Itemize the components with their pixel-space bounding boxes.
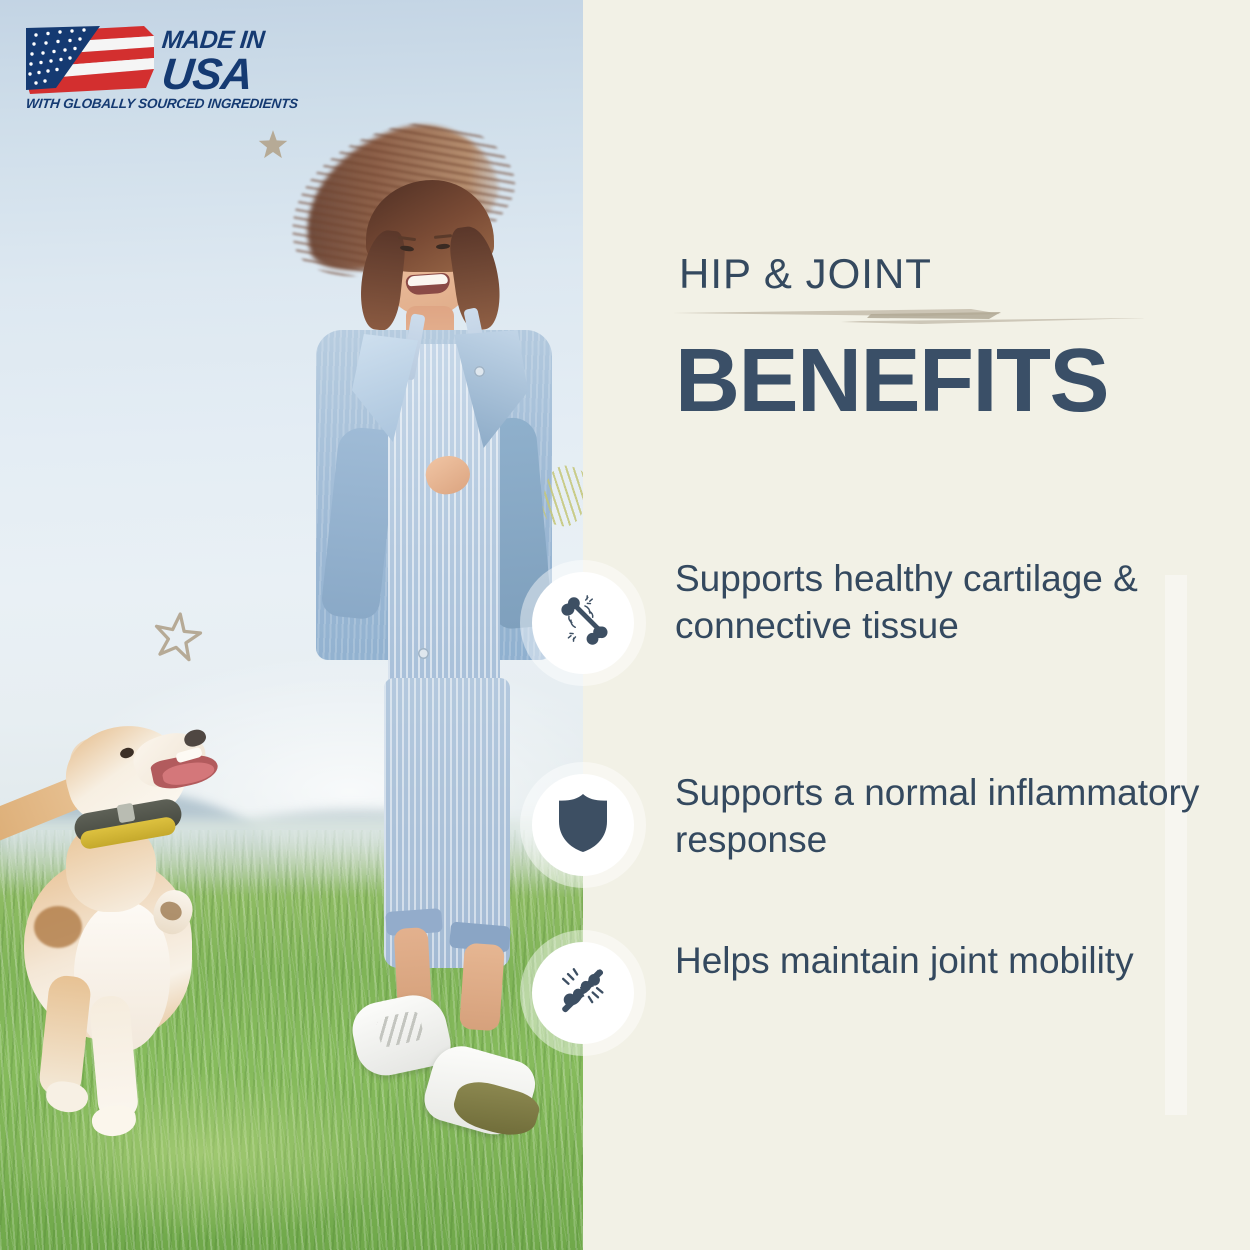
benefit-text: Supports healthy cartilage & connective …: [675, 556, 1235, 649]
benefit-icon-circle: [532, 942, 634, 1044]
benefits-list: Supports healthy cartilage & connective …: [583, 0, 1250, 1250]
benefit-text: Supports a normal inflammatory response: [675, 770, 1235, 863]
benefits-panel: HIP & JOINT BENEFITS: [583, 0, 1250, 1250]
benefit-text: Helps maintain joint mobility: [675, 938, 1235, 985]
dog-tongue: [161, 758, 216, 788]
dog-hind-paw-right: [91, 1104, 138, 1138]
teeth: [407, 274, 448, 287]
badge-line-usa: USA: [160, 54, 296, 96]
star-filled-icon: [254, 126, 292, 168]
dog-collar-buckle: [117, 803, 136, 824]
overalls-button-top: [474, 366, 485, 377]
leg-right: [459, 943, 505, 1032]
benefit-icon-circle: [532, 572, 634, 674]
bone-sparkle-icon: [552, 590, 614, 657]
jumping-dog: [0, 690, 270, 1150]
star-outline-icon: [148, 608, 206, 671]
lifestyle-photo: MADE IN USA WITH GLOBALLY SOURCED INGRED…: [0, 0, 583, 1250]
dog-fur-patch: [34, 906, 82, 948]
benefit-icon-circle: [532, 774, 634, 876]
us-flag-icon: [26, 26, 154, 94]
made-in-usa-badge: MADE IN USA WITH GLOBALLY SOURCED INGRED…: [26, 26, 294, 114]
shield-icon: [555, 792, 611, 859]
overalls-button-side: [418, 648, 429, 659]
dog-hind-paw-left: [44, 1079, 90, 1115]
joint-motion-icon: [552, 960, 614, 1027]
badge-subtitle: WITH GLOBALLY SOURCED INGREDIENTS: [25, 96, 295, 111]
marketing-graphic-canvas: MADE IN USA WITH GLOBALLY SOURCED INGRED…: [0, 0, 1250, 1250]
made-in-usa-wordmark: MADE IN USA: [162, 28, 294, 96]
